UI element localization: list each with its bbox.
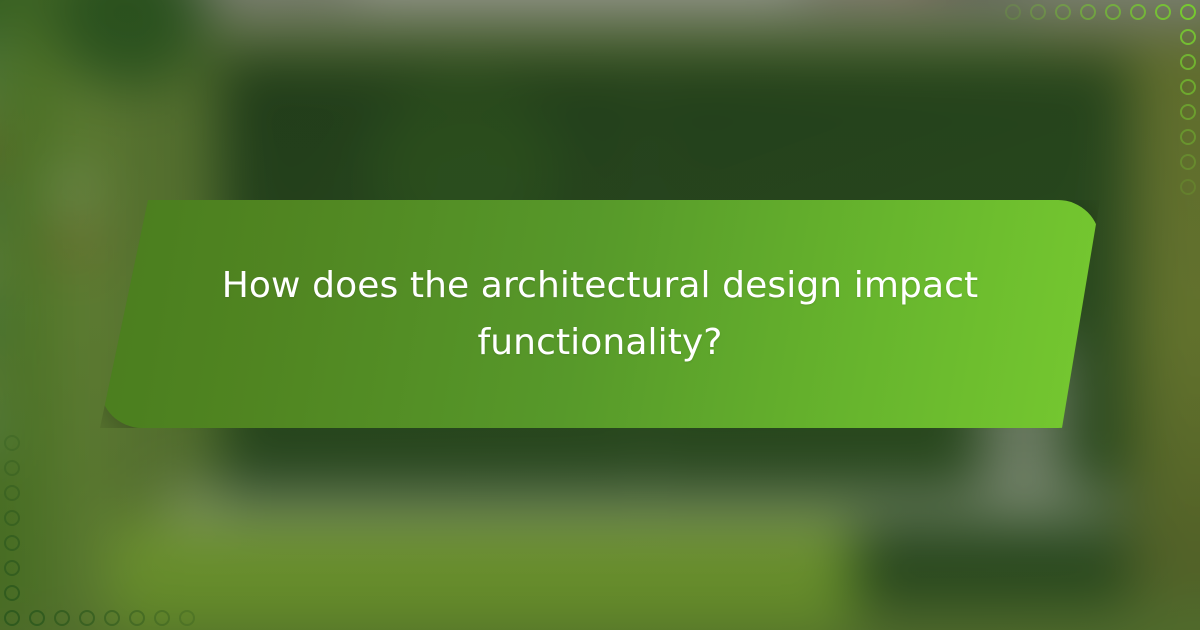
decorative-circle — [154, 610, 170, 626]
decorative-circle — [1180, 154, 1196, 170]
question-text: How does the architectural design impact… — [220, 257, 980, 371]
decorative-circle — [4, 485, 20, 501]
decorative-circle — [1180, 104, 1196, 120]
decorative-circle — [1055, 4, 1071, 20]
decorative-circle — [1030, 4, 1046, 20]
decorative-circle — [1105, 4, 1121, 20]
decorative-circle — [1180, 4, 1196, 20]
decorative-circle — [4, 610, 20, 626]
question-card-body: How does the architectural design impact… — [100, 200, 1100, 428]
decorative-circle — [179, 610, 195, 626]
decorative-circle — [129, 610, 145, 626]
decorative-circle — [29, 610, 45, 626]
decorative-circle — [1180, 54, 1196, 70]
decorative-circle — [1130, 4, 1146, 20]
decorative-circle — [4, 460, 20, 476]
question-card: How does the architectural design impact… — [100, 200, 1100, 428]
decorative-circle — [1180, 179, 1196, 195]
decorative-circle — [1180, 29, 1196, 45]
decorative-circle — [4, 535, 20, 551]
decorative-circle — [54, 610, 70, 626]
decorative-circle — [1180, 79, 1196, 95]
decorative-circle — [4, 560, 20, 576]
screenshot-stage: How does the architectural design impact… — [0, 0, 1200, 630]
decorative-circle — [1005, 4, 1021, 20]
decorative-circle — [4, 435, 20, 451]
decorative-circle — [1155, 4, 1171, 20]
decorative-circle — [104, 610, 120, 626]
decorative-circle — [4, 585, 20, 601]
decorative-circle — [79, 610, 95, 626]
decorative-circle — [4, 510, 20, 526]
decorative-circle — [1180, 129, 1196, 145]
decorative-circle — [1080, 4, 1096, 20]
